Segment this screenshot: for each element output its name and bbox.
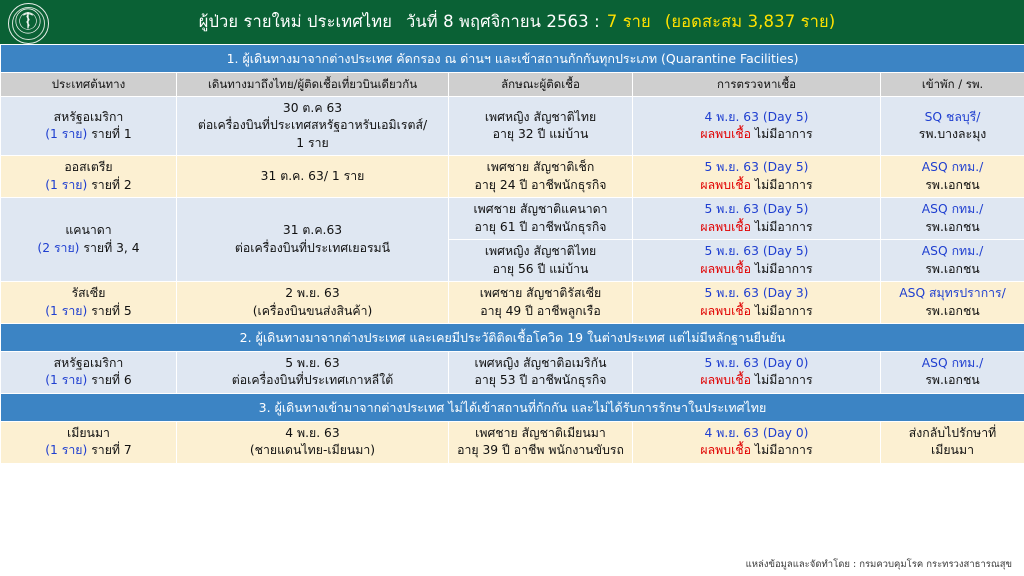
column-header-0: ประเทศต้นทาง bbox=[1, 73, 177, 97]
cell-test-result: 5 พ.ย. 63 (Day 0)ผลพบเชื้อ ไม่มีอาการ bbox=[633, 351, 881, 393]
cell-test-result: 5 พ.ย. 63 (Day 5)ผลพบเชื้อ ไม่มีอาการ bbox=[633, 198, 881, 240]
cumulative-count: (ยอดสะสม 3,837 ราย) bbox=[665, 12, 835, 31]
cell-arrival-info: 31 ต.ค.63ต่อเครื่องบินที่ประเทศเยอรมนี bbox=[177, 198, 449, 282]
infographic-page: ผู้ป่วย รายใหม่ ประเทศไทยวันที่ 8 พฤศจิก… bbox=[0, 0, 1024, 576]
cell-origin-country: แคนาดา(2 ราย) รายที่ 3, 4 bbox=[1, 198, 177, 282]
cell-test-result: 4 พ.ย. 63 (Day 0)ผลพบเชื้อ ไม่มีอาการ bbox=[633, 421, 881, 463]
cell-patient-profile: เพศหญิง สัญชาติไทยอายุ 56 ปี แม่บ้าน bbox=[449, 240, 633, 282]
cell-origin-country: เมียนมา(1 ราย) รายที่ 7 bbox=[1, 421, 177, 463]
column-header-4: เข้าพัก / รพ. bbox=[881, 73, 1024, 97]
cell-arrival-info: 4 พ.ย. 63(ชายแดนไทย-เมียนมา) bbox=[177, 421, 449, 463]
footer-attribution: แหล่งข้อมูลและจัดทำโดย : กรมควบคุมโรค กร… bbox=[746, 557, 1012, 572]
cell-arrival-info: 2 พ.ย. 63(เครื่องบินขนส่งสินค้า) bbox=[177, 282, 449, 324]
cell-facility: SQ ชลบุรี/รพ.บางละมุง bbox=[881, 97, 1024, 156]
column-header-2: ลักษณะผู้ติดเชื้อ bbox=[449, 73, 633, 97]
cell-test-result: 5 พ.ย. 63 (Day 3)ผลพบเชื้อ ไม่มีอาการ bbox=[633, 282, 881, 324]
cell-arrival-info: 31 ต.ค. 63/ 1 ราย bbox=[177, 156, 449, 198]
cell-facility: ASQ สมุทรปราการ/รพ.เอกชน bbox=[881, 282, 1024, 324]
cell-origin-country: รัสเซีย(1 ราย) รายที่ 5 bbox=[1, 282, 177, 324]
table-row: ออสเตรีย(1 ราย) รายที่ 231 ต.ค. 63/ 1 รา… bbox=[1, 156, 1024, 198]
cell-patient-profile: เพศชาย สัญชาติเมียนมาอายุ 39 ปี อาชีพ พน… bbox=[449, 421, 633, 463]
cell-origin-country: สหรัฐอเมริกา(1 ราย) รายที่ 1 bbox=[1, 97, 177, 156]
page-title: ผู้ป่วย รายใหม่ ประเทศไทยวันที่ 8 พฤศจิก… bbox=[0, 9, 1024, 35]
section-header-row: 2. ผู้เดินทางมาจากต่างประเทศ และเคยมีประ… bbox=[1, 323, 1024, 351]
column-header-row: ประเทศต้นทางเดินทางมาถึงไทย/ผู้ติดเชื้อเ… bbox=[1, 73, 1024, 97]
column-header-1: เดินทางมาถึงไทย/ผู้ติดเชื้อเที่ยวบินเดีย… bbox=[177, 73, 449, 97]
caduceus-icon bbox=[15, 8, 41, 38]
cell-origin-country: สหรัฐอเมริกา(1 ราย) รายที่ 6 bbox=[1, 351, 177, 393]
ministry-logo bbox=[6, 1, 50, 45]
cell-arrival-info: 30 ต.ค 63ต่อเครื่องบินที่ประเทศสหรัฐอาหร… bbox=[177, 97, 449, 156]
cell-arrival-info: 5 พ.ย. 63ต่อเครื่องบินที่ประเทศเกาหลีใต้ bbox=[177, 351, 449, 393]
section-heading: 1. ผู้เดินทางมาจากต่างประเทศ คัดกรอง ณ ด… bbox=[1, 45, 1024, 73]
cell-test-result: 4 พ.ย. 63 (Day 5)ผลพบเชื้อ ไม่มีอาการ bbox=[633, 97, 881, 156]
cell-facility: ASQ กทม./รพ.เอกชน bbox=[881, 198, 1024, 240]
cell-origin-country: ออสเตรีย(1 ราย) รายที่ 2 bbox=[1, 156, 177, 198]
cell-test-result: 5 พ.ย. 63 (Day 5)ผลพบเชื้อ ไม่มีอาการ bbox=[633, 156, 881, 198]
ministry-of-public-health-emblem-icon bbox=[8, 3, 49, 44]
column-header-3: การตรวจหาเชื้อ bbox=[633, 73, 881, 97]
table-row: สหรัฐอเมริกา(1 ราย) รายที่ 130 ต.ค 63ต่อ… bbox=[1, 97, 1024, 156]
cell-patient-profile: เพศชาย สัญชาติแคนาดาอายุ 61 ปี อาชีพนักธ… bbox=[449, 198, 633, 240]
cell-facility: ASQ กทม./รพ.เอกชน bbox=[881, 351, 1024, 393]
section-header-row: 1. ผู้เดินทางมาจากต่างประเทศ คัดกรอง ณ ด… bbox=[1, 45, 1024, 73]
section-header-row: 3. ผู้เดินทางเข้ามาจากต่างประเทศ ไม่ได้เ… bbox=[1, 393, 1024, 421]
cases-table: 1. ผู้เดินทางมาจากต่างประเทศ คัดกรอง ณ ด… bbox=[0, 44, 1024, 464]
table-row: สหรัฐอเมริกา(1 ราย) รายที่ 65 พ.ย. 63ต่อ… bbox=[1, 351, 1024, 393]
table-row: แคนาดา(2 ราย) รายที่ 3, 431 ต.ค.63ต่อเคร… bbox=[1, 198, 1024, 240]
cell-test-result: 5 พ.ย. 63 (Day 5)ผลพบเชื้อ ไม่มีอาการ bbox=[633, 240, 881, 282]
section-heading: 2. ผู้เดินทางมาจากต่างประเทศ และเคยมีประ… bbox=[1, 323, 1024, 351]
section-heading: 3. ผู้เดินทางเข้ามาจากต่างประเทศ ไม่ได้เ… bbox=[1, 393, 1024, 421]
cell-facility: ASQ กทม./รพ.เอกชน bbox=[881, 156, 1024, 198]
title-date: วันที่ 8 พฤศจิกายน 2563 : bbox=[406, 12, 600, 31]
cell-facility: ASQ กทม./รพ.เอกชน bbox=[881, 240, 1024, 282]
cell-patient-profile: เพศชาย สัญชาติเช็กอายุ 24 ปี อาชีพนักธุร… bbox=[449, 156, 633, 198]
cell-patient-profile: เพศหญิง สัญชาติอเมริกันอายุ 53 ปี อาชีพน… bbox=[449, 351, 633, 393]
cell-facility: ส่งกลับไปรักษาที่เมียนมา bbox=[881, 421, 1024, 463]
new-case-count: 7 ราย bbox=[607, 12, 651, 31]
table-row: เมียนมา(1 ราย) รายที่ 74 พ.ย. 63(ชายแดนไ… bbox=[1, 421, 1024, 463]
page-banner: ผู้ป่วย รายใหม่ ประเทศไทยวันที่ 8 พฤศจิก… bbox=[0, 0, 1024, 44]
cell-patient-profile: เพศหญิง สัญชาติไทยอายุ 32 ปี แม่บ้าน bbox=[449, 97, 633, 156]
table-row: รัสเซีย(1 ราย) รายที่ 52 พ.ย. 63(เครื่อง… bbox=[1, 282, 1024, 324]
cell-patient-profile: เพศชาย สัญชาติรัสเซียอายุ 49 ปี อาชีพลูก… bbox=[449, 282, 633, 324]
title-main: ผู้ป่วย รายใหม่ ประเทศไทย bbox=[199, 12, 392, 31]
